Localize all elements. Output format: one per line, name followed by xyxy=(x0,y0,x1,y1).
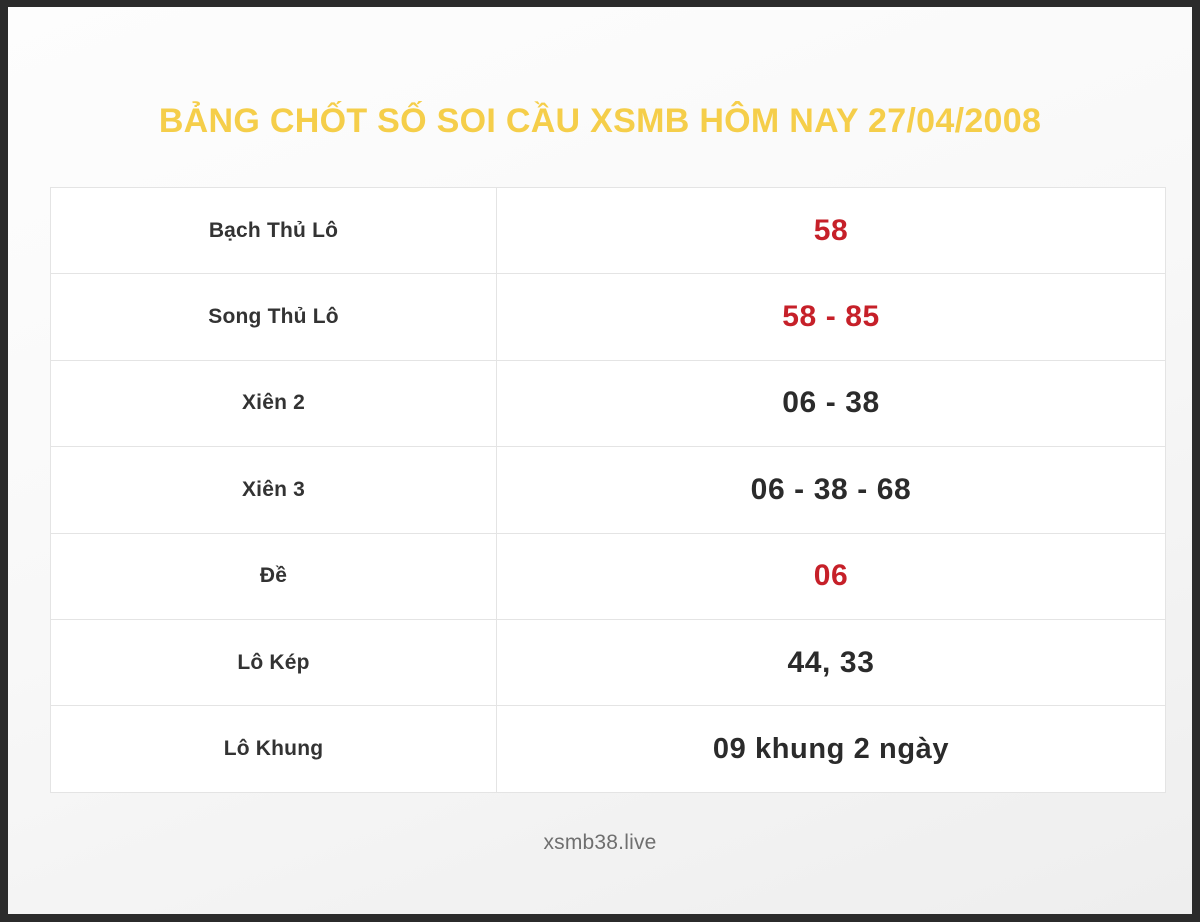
page-title: BẢNG CHỐT SỐ SOI CẦU XSMB HÔM NAY 27/04/… xyxy=(159,100,1041,142)
row-value: 44, 33 xyxy=(497,619,1166,705)
table-row: Song Thủ Lô58 - 85 xyxy=(51,274,1166,360)
table-row: Lô Kép44, 33 xyxy=(51,619,1166,705)
row-label: Xiên 3 xyxy=(51,447,497,533)
table-row: Xiên 206 - 38 xyxy=(51,360,1166,446)
row-value: 06 - 38 xyxy=(497,360,1166,446)
row-value: 58 xyxy=(497,188,1166,274)
row-label: Song Thủ Lô xyxy=(51,274,497,360)
page-canvas: BẢNG CHỐT SỐ SOI CẦU XSMB HÔM NAY 27/04/… xyxy=(8,7,1192,914)
footer: xsmb38.live xyxy=(8,831,1192,855)
table-row: Lô Khung09 khung 2 ngày xyxy=(51,706,1166,792)
row-label: Lô Khung xyxy=(51,706,497,792)
table-row: Đề06 xyxy=(51,533,1166,619)
table-row: Xiên 306 - 38 - 68 xyxy=(51,447,1166,533)
site-name: xsmb38.live xyxy=(543,831,656,854)
page-title-container: BẢNG CHỐT SỐ SOI CẦU XSMB HÔM NAY 27/04/… xyxy=(8,100,1192,142)
table-row: Bạch Thủ Lô58 xyxy=(51,188,1166,274)
row-value: 06 xyxy=(497,533,1166,619)
row-value: 06 - 38 - 68 xyxy=(497,447,1166,533)
prediction-table: Bạch Thủ Lô58Song Thủ Lô58 - 85Xiên 206 … xyxy=(50,187,1166,793)
row-label: Bạch Thủ Lô xyxy=(51,188,497,274)
prediction-table-body: Bạch Thủ Lô58Song Thủ Lô58 - 85Xiên 206 … xyxy=(51,188,1166,793)
page-frame: BẢNG CHỐT SỐ SOI CẦU XSMB HÔM NAY 27/04/… xyxy=(0,0,1200,922)
row-label: Đề xyxy=(51,533,497,619)
row-value: 09 khung 2 ngày xyxy=(497,706,1166,792)
row-label: Lô Kép xyxy=(51,619,497,705)
row-value: 58 - 85 xyxy=(497,274,1166,360)
row-label: Xiên 2 xyxy=(51,360,497,446)
